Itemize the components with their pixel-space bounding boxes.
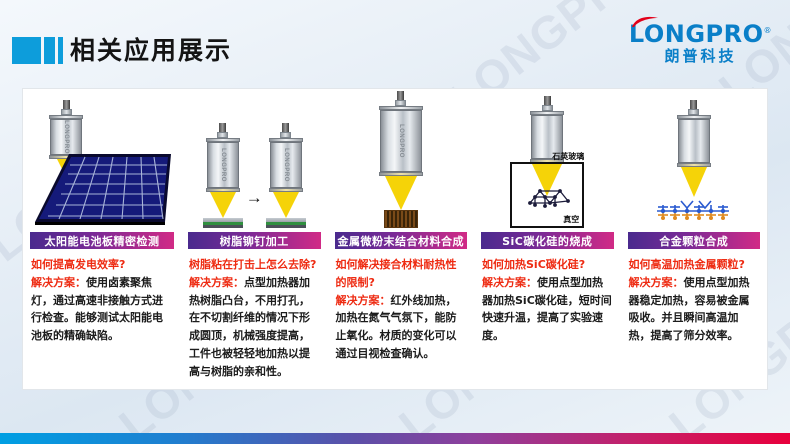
- figure-sic-sintering: 石英玻璃: [478, 89, 617, 232]
- body-alloy: 如何高温加热金属颗粒? 解决方案：使用点型加热器稳定加热，容易被金属吸收。并且瞬…: [625, 256, 764, 345]
- body-solar: 如何提高发电效率? 解决方案：使用卤素聚焦灯，通过高速非接触方式进行检查。能够测…: [27, 256, 177, 345]
- lamp-body-icon: [678, 119, 710, 163]
- light-beam-icon: [681, 167, 707, 197]
- solution-text-resin: 点型加热器加热树脂凸台，不用打孔，在不切割纤维的情况下形成圆顶，机械强度提高，工…: [189, 276, 310, 378]
- metal-powder-icon: [384, 210, 418, 228]
- badge-solar: 太阳能电池板精密检测: [30, 232, 174, 249]
- solar-panel-icon: [33, 152, 173, 226]
- light-beam-icon: [385, 176, 417, 210]
- quartz-glass-label: 石英玻璃: [552, 151, 584, 162]
- badge-alloy: 合金颗粒合成: [628, 232, 761, 249]
- accent-bar-large: [12, 37, 41, 64]
- process-arrow-icon: →: [246, 189, 263, 206]
- figure-solar-panel-inspection: LONGPRO: [27, 89, 177, 232]
- vacuum-label: 真空: [563, 214, 579, 225]
- badge-resin: 树脂铆钉加工: [188, 232, 321, 249]
- lamp-cap-icon: [282, 123, 289, 132]
- lamp-cap-icon: [690, 100, 697, 109]
- solution-label-metal-powder: 解决方案：: [336, 294, 391, 307]
- solution-label-alloy: 解决方案：: [629, 276, 684, 289]
- application-column-sic: 石英玻璃: [474, 89, 621, 389]
- lamp-body-icon: LONGPRO: [380, 110, 422, 172]
- figure-resin-rivet: LONGPRO → LO: [185, 89, 324, 232]
- lamp-body-icon: LONGPRO: [270, 142, 302, 188]
- logo-registered-mark: ®: [764, 26, 773, 35]
- lamp-brand-mark: LONGPRO: [283, 148, 289, 182]
- lamp-cap-icon: [63, 100, 70, 109]
- figure-alloy-particles: [625, 89, 764, 232]
- crystal-lattice-icon: [526, 185, 570, 216]
- lamp-cap-icon: [544, 96, 551, 105]
- application-column-alloy: 合金颗粒合成 如何高温加热金属颗粒? 解决方案：使用点型加热器稳定加热，容易被金…: [621, 89, 768, 389]
- solution-label-resin: 解决方案：: [189, 276, 244, 289]
- application-column-solar: LONGPRO: [23, 89, 181, 389]
- question-solar: 如何提高发电效率?: [31, 256, 173, 274]
- page-title: 相关应用展示: [70, 31, 232, 67]
- question-resin: 树脂粘在打击上怎么去除?: [189, 256, 320, 274]
- logo-wordmark: LONGPRO®: [629, 22, 772, 46]
- lamp-brand-mark: LONGPRO: [220, 148, 226, 182]
- company-logo: LONGPRO® 朗普科技: [629, 22, 772, 64]
- lamp-brand-mark: LONGPRO: [398, 124, 404, 158]
- body-sic: 如何加热SiC碳化硅? 解决方案：使用点型加热器加热SiC碳化硅，短时间快速升温…: [478, 256, 617, 345]
- solution-label-solar: 解决方案：: [31, 276, 86, 289]
- logo-swoosh-icon: [631, 15, 659, 28]
- application-column-metal-powder: LONGPRO 金属微粉末结合材料合成 如何解决接合材料耐热性的限制? 解决方案…: [328, 89, 475, 389]
- application-column-resin: LONGPRO → LO: [181, 89, 328, 389]
- lamp-cap-icon: [219, 123, 226, 132]
- lamp-brand-mark: LONGPRO: [63, 120, 69, 154]
- figure-metal-powder: LONGPRO: [332, 89, 471, 232]
- accent-bar-small: [58, 37, 63, 64]
- lamp-cap-icon: [397, 91, 404, 100]
- light-beam-icon: [273, 192, 299, 218]
- question-alloy: 如何高温加热金属颗粒?: [629, 256, 760, 274]
- badge-metal-powder: 金属微粉末结合材料合成: [335, 232, 468, 249]
- question-metal-powder: 如何解决接合材料耐热性的限制?: [336, 256, 467, 292]
- lamp-body-icon: LONGPRO: [207, 142, 239, 188]
- body-metal-powder: 如何解决接合材料耐热性的限制? 解决方案：红外线加热，加热在氮气气氛下，能防止氧…: [332, 256, 471, 363]
- badge-sic: SiC碳化硅的烧成: [481, 232, 614, 249]
- workpiece-icon: [203, 218, 243, 228]
- light-beam-icon: [210, 192, 236, 218]
- applications-card: LONGPRO: [22, 88, 768, 390]
- quartz-vacuum-chamber: 石英玻璃: [510, 162, 584, 228]
- logo-chinese-name: 朗普科技: [629, 49, 772, 64]
- page-header: 相关应用展示 LONGPRO® 朗普科技: [0, 0, 790, 88]
- workpiece-icon: [266, 218, 306, 228]
- header-accent-bars: [12, 37, 63, 64]
- lamp-body-icon: LONGPRO: [50, 119, 82, 155]
- alloy-particles-icon: [651, 197, 737, 228]
- body-resin: 树脂粘在打击上怎么去除? 解决方案：点型加热器加热树脂凸台，不用打孔，在不切割纤…: [185, 256, 324, 381]
- solution-label-sic: 解决方案：: [482, 276, 537, 289]
- accent-bar-medium: [44, 37, 55, 64]
- question-sic: 如何加热SiC碳化硅?: [482, 256, 613, 274]
- bottom-gradient-bar: [0, 433, 790, 444]
